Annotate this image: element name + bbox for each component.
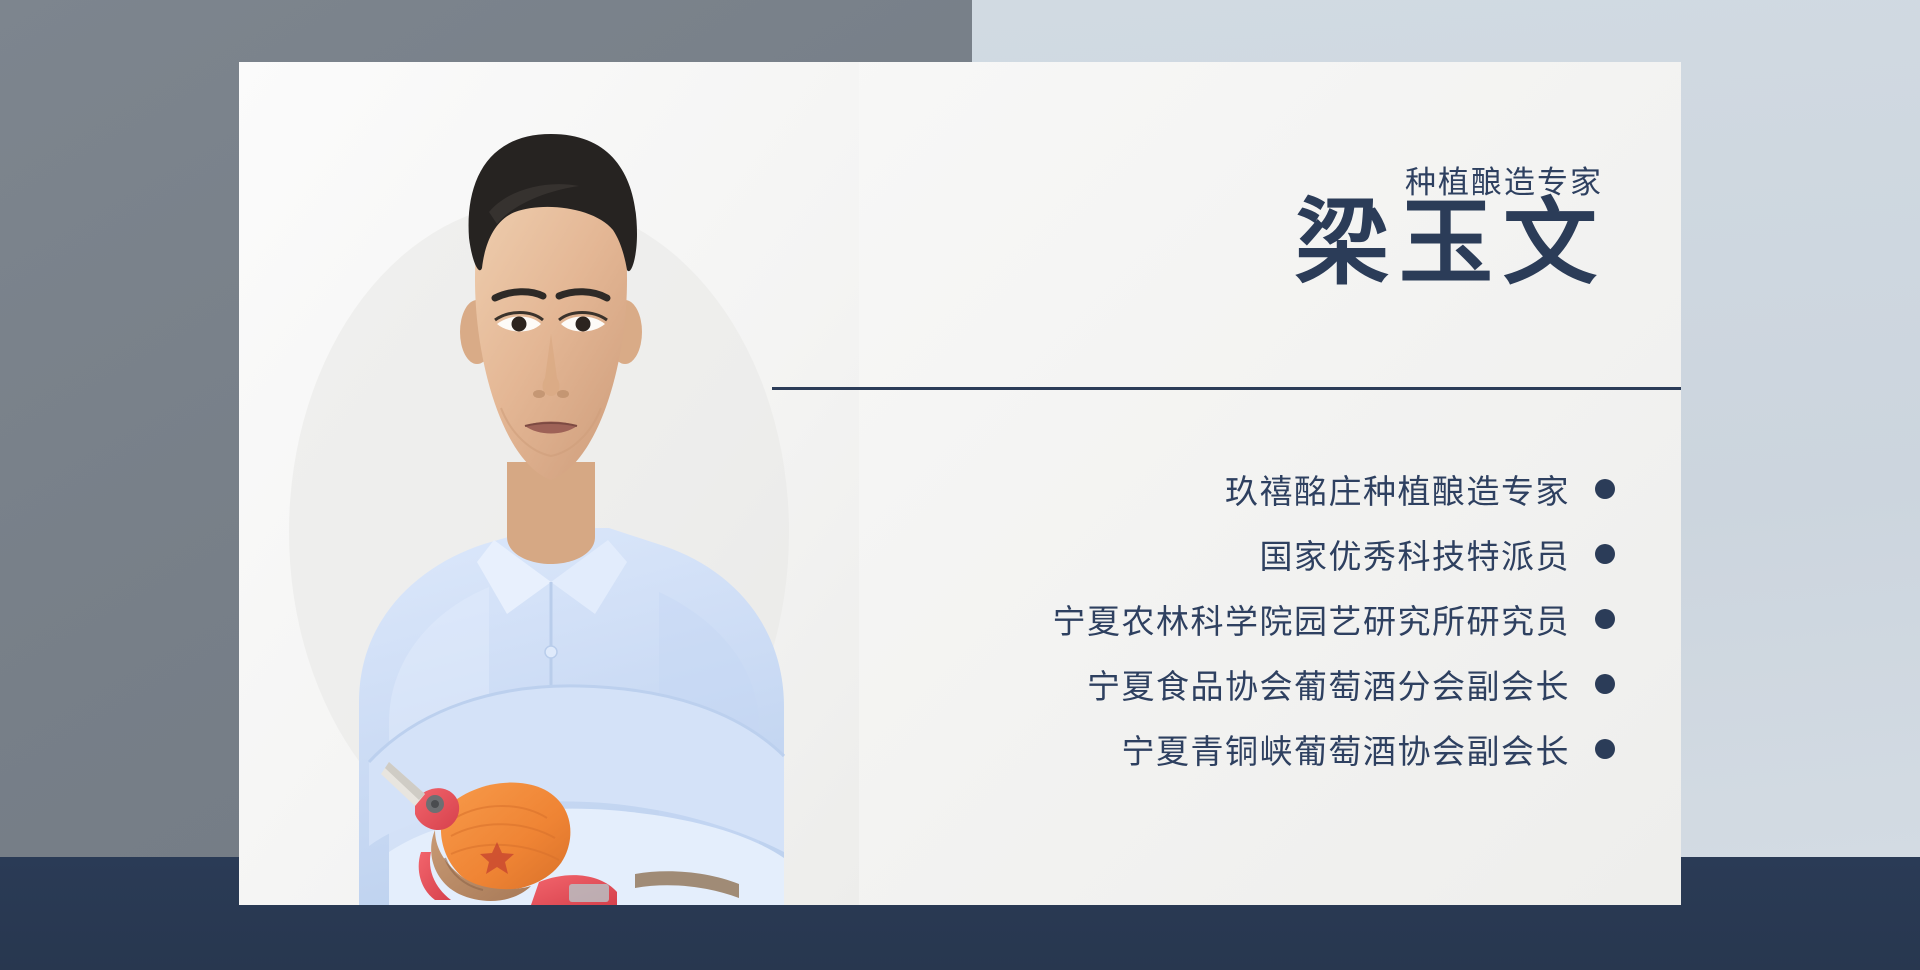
person-name: 梁玉文 <box>1295 194 1607 296</box>
list-item: 宁夏农林科学院园艺研究所研究员 <box>855 592 1615 646</box>
portrait-photo <box>239 62 859 905</box>
credential-label: 宁夏农林科学院园艺研究所研究员 <box>1053 595 1571 643</box>
profile-text-block: 种植酿造专家 梁玉文 玖禧酩庄种植酿造专家 国家优秀科技特派员 宁夏农林科学院园… <box>859 62 1681 905</box>
credentials-list: 玖禧酩庄种植酿造专家 国家优秀科技特派员 宁夏农林科学院园艺研究所研究员 宁夏食… <box>855 462 1615 787</box>
horizontal-rule <box>772 383 1681 395</box>
credential-label: 玖禧酩庄种植酿造专家 <box>1225 465 1570 513</box>
bullet-dot-icon <box>1595 479 1615 499</box>
bullet-dot-icon <box>1595 674 1615 694</box>
credential-label: 国家优秀科技特派员 <box>1260 530 1571 578</box>
list-item: 宁夏青铜峡葡萄酒协会副会长 <box>855 722 1615 776</box>
list-item: 玖禧酩庄种植酿造专家 <box>855 462 1615 516</box>
bullet-dot-icon <box>1595 544 1615 564</box>
bullet-dot-icon <box>1595 739 1615 759</box>
list-item: 国家优秀科技特派员 <box>855 527 1615 581</box>
profile-card: 种植酿造专家 梁玉文 玖禧酩庄种植酿造专家 国家优秀科技特派员 宁夏农林科学院园… <box>239 62 1681 905</box>
rule-line <box>772 387 1681 390</box>
profile-banner: 种植酿造专家 梁玉文 玖禧酩庄种植酿造专家 国家优秀科技特派员 宁夏农林科学院园… <box>0 0 1920 970</box>
credential-label: 宁夏食品协会葡萄酒分会副会长 <box>1087 660 1570 708</box>
credential-label: 宁夏青铜峡葡萄酒协会副会长 <box>1122 725 1571 773</box>
list-item: 宁夏食品协会葡萄酒分会副会长 <box>855 657 1615 711</box>
bullet-dot-icon <box>1595 609 1615 629</box>
